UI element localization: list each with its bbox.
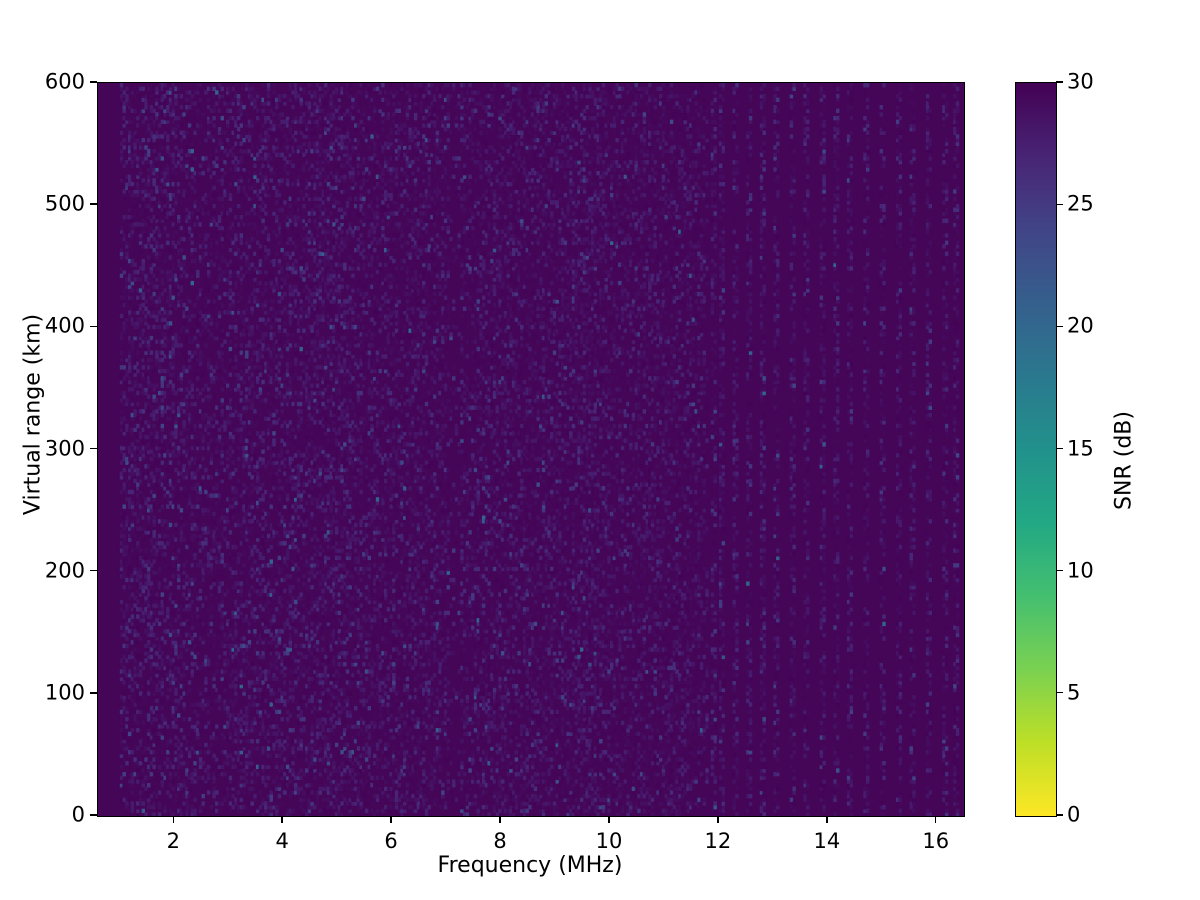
y-tick-mark	[90, 326, 97, 327]
x-tick-mark	[173, 816, 174, 823]
colorbar-tick-label-0: 0	[1067, 805, 1127, 826]
x-tick-mark	[281, 816, 282, 823]
x-tick-label-10: 10	[579, 831, 639, 852]
colorbar-tick-mark	[1056, 204, 1063, 205]
y-tick-mark	[90, 814, 97, 815]
x-tick-mark	[390, 816, 391, 823]
ionogram-heatmap	[98, 83, 964, 816]
y-tick-mark	[90, 203, 97, 204]
x-tick-label-4: 4	[252, 831, 312, 852]
y-tick-mark	[90, 570, 97, 571]
x-tick-mark	[499, 816, 500, 823]
colorbar-tick-mark	[1056, 570, 1063, 571]
ionogram-figure: IRF Kiruna Ionosonde KI167 2025-12-07 11…	[0, 0, 1200, 900]
x-tick-label-2: 2	[143, 831, 203, 852]
x-tick-label-14: 14	[797, 831, 857, 852]
x-tick-mark	[717, 816, 718, 823]
colorbar-label: SNR (dB)	[1112, 271, 1137, 651]
colorbar-tick-mark	[1056, 81, 1063, 82]
y-tick-mark	[90, 448, 97, 449]
x-tick-mark	[608, 816, 609, 823]
x-tick-mark	[935, 816, 936, 823]
colorbar-tick-mark	[1056, 814, 1063, 815]
colorbar-tick-label-25: 25	[1067, 194, 1127, 215]
x-tick-label-6: 6	[361, 831, 421, 852]
x-tick-label-12: 12	[688, 831, 748, 852]
plot-axes	[97, 82, 965, 817]
y-tick-mark	[90, 692, 97, 693]
colorbar-tick-mark	[1056, 448, 1063, 449]
y-tick-label-0: 0	[0, 805, 85, 826]
colorbar-gradient	[1016, 83, 1056, 816]
colorbar-tick-mark	[1056, 326, 1063, 327]
colorbar	[1015, 82, 1057, 817]
x-tick-label-8: 8	[470, 831, 530, 852]
colorbar-tick-mark	[1056, 692, 1063, 693]
y-axis-label: Virtual range (km)	[21, 45, 46, 785]
y-tick-mark	[90, 81, 97, 82]
x-tick-mark	[826, 816, 827, 823]
colorbar-tick-label-5: 5	[1067, 682, 1127, 703]
x-tick-label-16: 16	[906, 831, 966, 852]
x-axis-label: Frequency (MHz)	[97, 853, 963, 878]
colorbar-tick-label-30: 30	[1067, 72, 1127, 93]
